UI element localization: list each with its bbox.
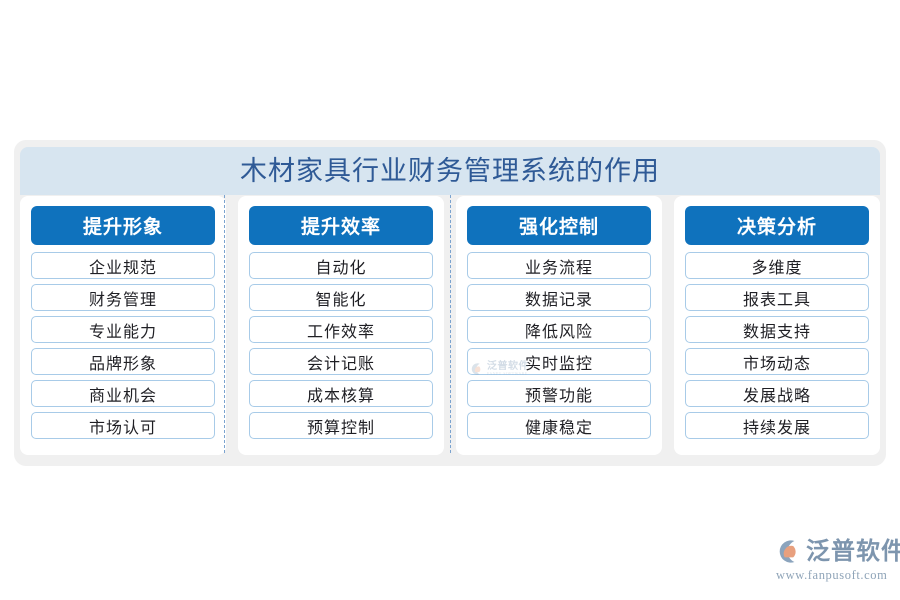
brand-logo: 泛普软件 www.fanpusoft.com: [775, 538, 900, 583]
column-items-4: 多维度 报表工具 数据支持 市场动态 发展战略 持续发展: [685, 252, 869, 445]
column-divider-1: [224, 195, 225, 453]
column-items-3: 业务流程 数据记录 降低风险 实时监控 预警功能 健康稳定: [467, 252, 651, 445]
column-card-3: 强化控制 业务流程 数据记录 降低风险 实时监控 预警功能 健康稳定: [456, 196, 662, 455]
column-header-1: 提升形象: [31, 206, 215, 245]
list-item: 数据记录: [467, 284, 651, 311]
list-item: 降低风险: [467, 316, 651, 343]
list-item: 健康稳定: [467, 412, 651, 439]
brand-name: 泛普软件: [806, 540, 900, 564]
list-item: 市场认可: [31, 412, 215, 439]
column-header-2: 提升效率: [249, 206, 433, 245]
list-item: 会计记账: [249, 348, 433, 375]
column-header-3: 强化控制: [467, 206, 651, 245]
column-items-2: 自动化 智能化 工作效率 会计记账 成本核算 预算控制: [249, 252, 433, 445]
column-card-1: 提升形象 企业规范 财务管理 专业能力 品牌形象 商业机会 市场认可: [20, 196, 226, 455]
column-divider-2: [450, 195, 451, 453]
column-items-1: 企业规范 财务管理 专业能力 品牌形象 商业机会 市场认可: [31, 252, 215, 445]
column-card-4: 决策分析 多维度 报表工具 数据支持 市场动态 发展战略 持续发展: [674, 196, 880, 455]
list-item: 商业机会: [31, 380, 215, 407]
list-item: 数据支持: [685, 316, 869, 343]
brand-url: www.fanpusoft.com: [776, 568, 887, 583]
fanpu-logo-icon: [775, 538, 802, 565]
list-item: 自动化: [249, 252, 433, 279]
list-item: 预警功能: [467, 380, 651, 407]
list-item: 实时监控: [467, 348, 651, 375]
list-item: 业务流程: [467, 252, 651, 279]
list-item: 多维度: [685, 252, 869, 279]
column-card-2: 提升效率 自动化 智能化 工作效率 会计记账 成本核算 预算控制: [238, 196, 444, 455]
list-item: 工作效率: [249, 316, 433, 343]
list-item: 智能化: [249, 284, 433, 311]
list-item: 成本核算: [249, 380, 433, 407]
list-item: 专业能力: [31, 316, 215, 343]
list-item: 品牌形象: [31, 348, 215, 375]
list-item: 报表工具: [685, 284, 869, 311]
list-item: 企业规范: [31, 252, 215, 279]
list-item: 市场动态: [685, 348, 869, 375]
list-item: 持续发展: [685, 412, 869, 439]
brand-logo-row: 泛普软件: [775, 538, 900, 565]
list-item: 预算控制: [249, 412, 433, 439]
column-header-4: 决策分析: [685, 206, 869, 245]
page-title: 木材家具行业财务管理系统的作用: [240, 158, 660, 185]
list-item: 发展战略: [685, 380, 869, 407]
list-item: 财务管理: [31, 284, 215, 311]
infographic-title-band: 木材家具行业财务管理系统的作用: [20, 147, 880, 195]
